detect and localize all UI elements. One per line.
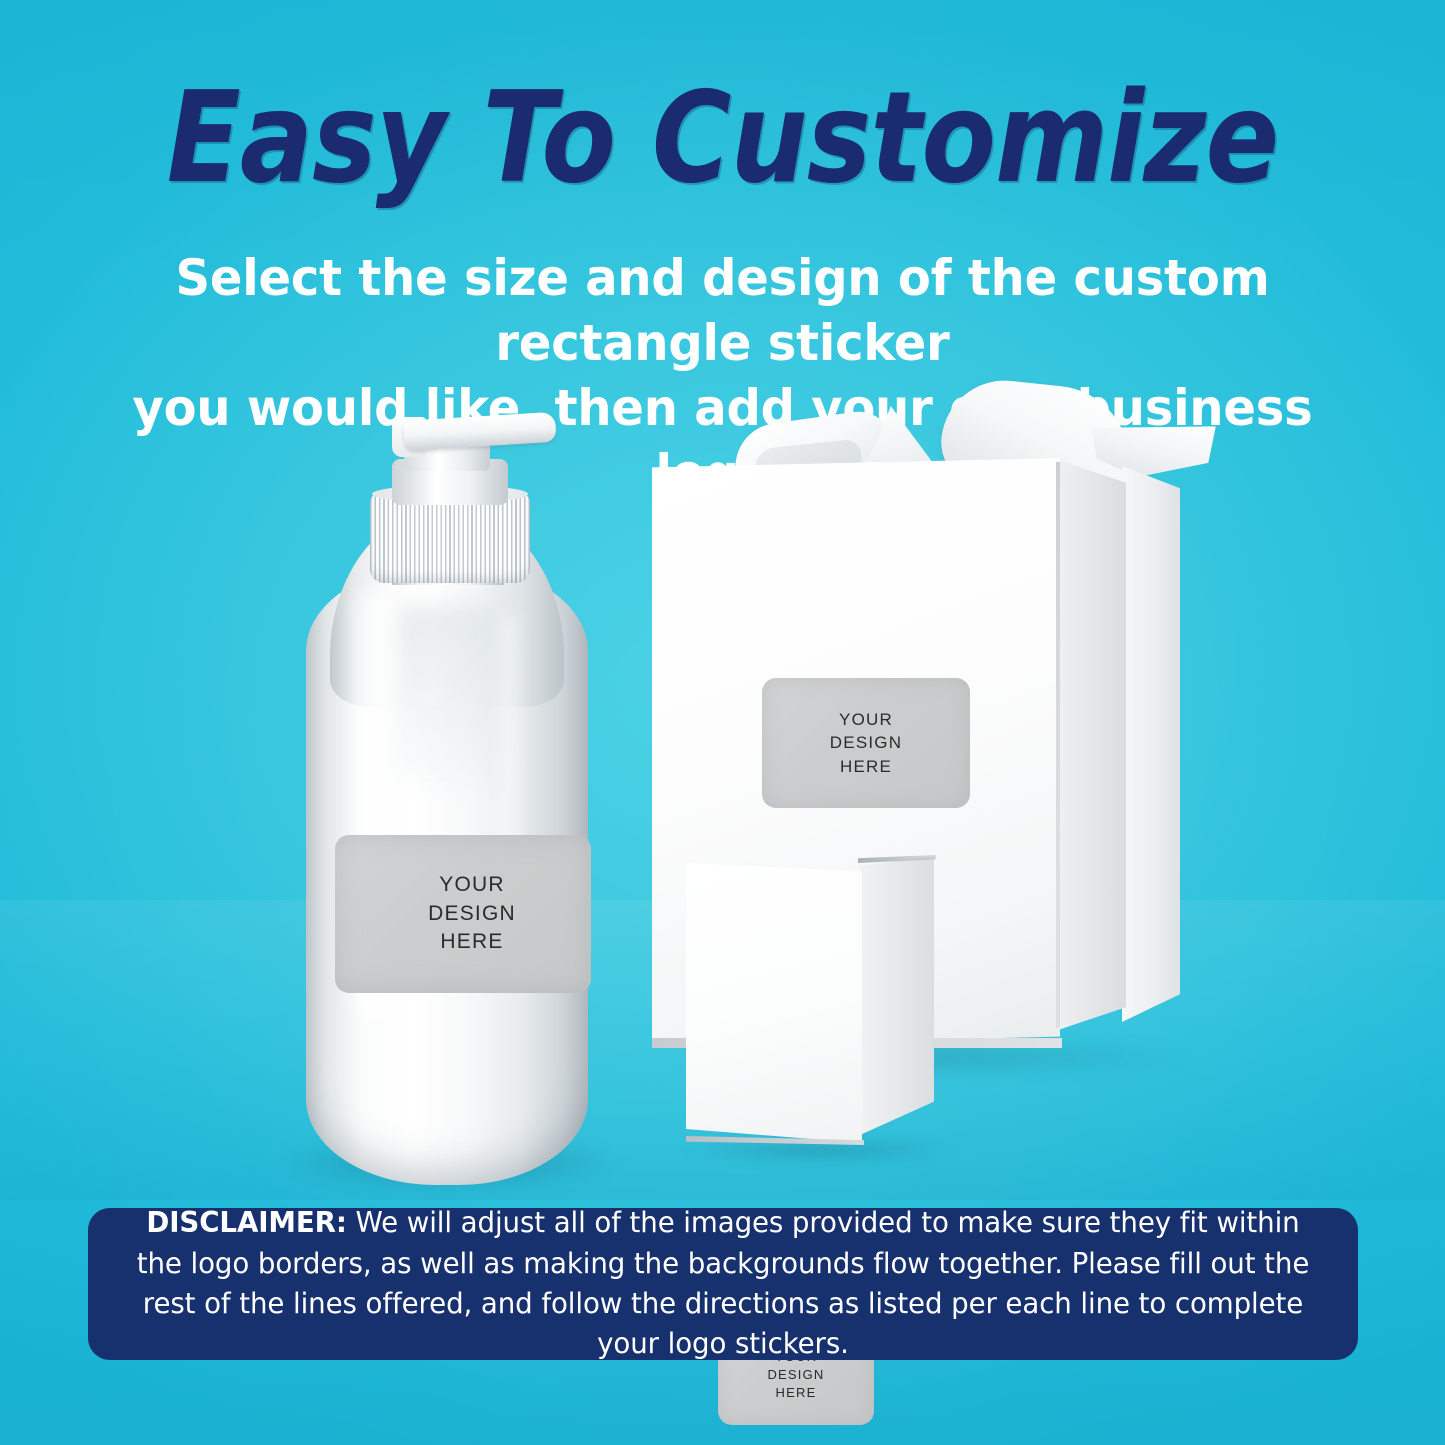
gift-box-lid-seam [1056, 462, 1060, 1028]
small-sticker-line-2: DESIGN [767, 1366, 824, 1384]
disclaimer-text: DISCLAIMER: We will adjust all of the im… [132, 1203, 1313, 1365]
small-product-box [686, 855, 952, 1155]
small-box-front-panel [686, 863, 862, 1143]
pump-bottle: YOUR DESIGN HERE [296, 415, 596, 1195]
bottle-sticker-line-2: DESIGN [428, 900, 516, 929]
bottle-reflection [392, 605, 504, 785]
product-scene: YOUR DESIGN HERE YOUR DESIGN HERE YOUR D… [0, 370, 1445, 1200]
disclaimer-label: DISCLAIMER: [146, 1206, 346, 1239]
pump-collar-ribbed [370, 493, 530, 583]
small-sticker-line-3: HERE [776, 1384, 817, 1402]
gift-box-design-sticker[interactable]: YOUR DESIGN HERE [762, 678, 970, 808]
gift-sticker-line-2: DESIGN [830, 731, 902, 754]
gift-sticker-line-3: HERE [840, 755, 892, 778]
gift-sticker-line-1: YOUR [839, 708, 893, 731]
pump-nozzle [403, 412, 557, 451]
small-box-side-panel [860, 857, 934, 1135]
gift-box-back-panel [1122, 466, 1180, 1022]
bottle-design-sticker[interactable]: YOUR DESIGN HERE [335, 835, 591, 993]
bottle-sticker-line-3: HERE [440, 928, 503, 957]
bottle-sticker-line-1: YOUR [439, 871, 504, 900]
page-title: Easy To Customize [101, 74, 1344, 203]
subtitle-line-1: Select the size and design of the custom… [104, 246, 1341, 376]
gift-box-side-panel [1058, 460, 1126, 1030]
product-listing-image: Easy To Customize Select the size and de… [0, 0, 1445, 1445]
disclaimer-banner: DISCLAIMER: We will adjust all of the im… [88, 1208, 1358, 1360]
